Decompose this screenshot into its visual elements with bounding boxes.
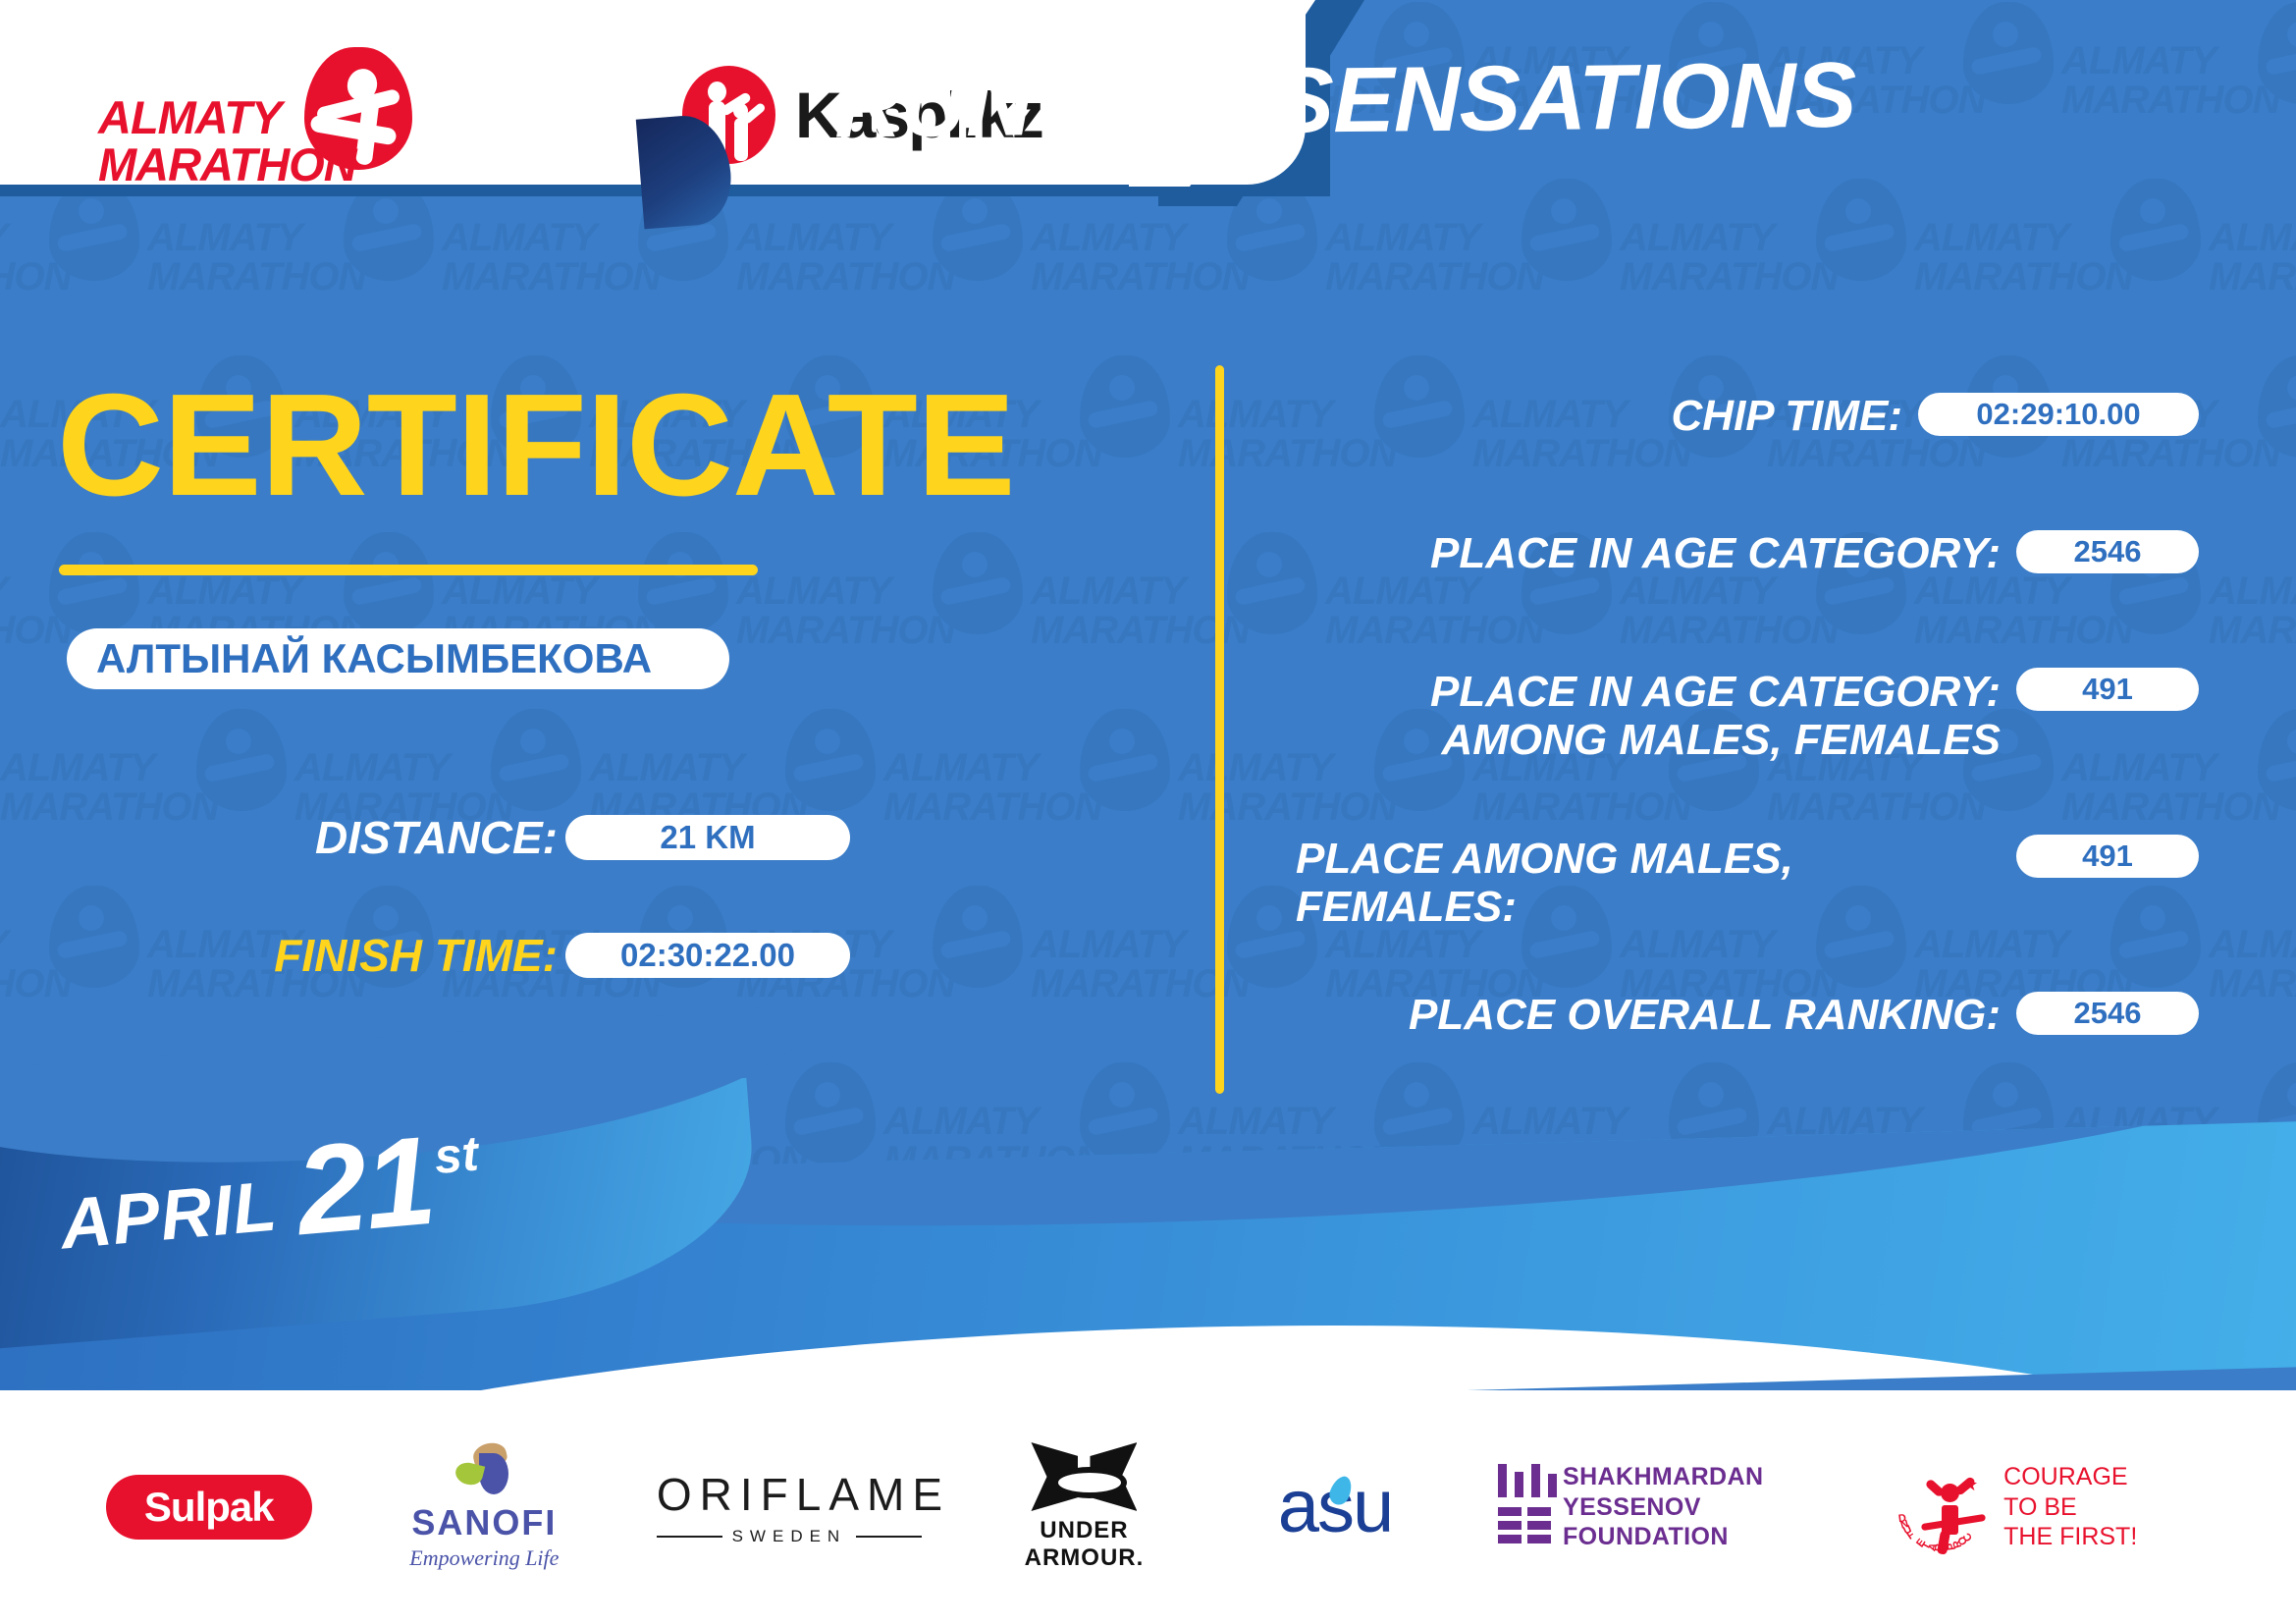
yessenov-bar-segment bbox=[1548, 1474, 1557, 1497]
sponsor-courage-fund: CORPORATE FUND ★ COURAGE TO BE THE FIRST bbox=[1896, 1458, 2190, 1556]
watermark-line2: MARATHON bbox=[1914, 609, 2132, 653]
watermark-tile: ALMATYMARATHON bbox=[0, 707, 294, 884]
watermark-line2: MARATHON bbox=[1325, 609, 1543, 653]
watermark-line2: MARATHON bbox=[0, 255, 71, 299]
under-armour-wordmark: UNDER ARMOUR. bbox=[995, 1517, 1172, 1572]
watermark-tile: ALMATYMARATHON bbox=[736, 177, 1031, 353]
vertical-divider bbox=[1215, 365, 1224, 1094]
watermark-tile: ALMATYMARATHON bbox=[1325, 177, 1620, 353]
watermark-line2: MARATHON bbox=[2209, 962, 2296, 1006]
watermark-line2: MARATHON bbox=[0, 785, 218, 830]
finish-time-label: FINISH TIME: bbox=[273, 929, 558, 982]
sponsor-oriflame: ORIFLAME SWEDEN bbox=[657, 1468, 922, 1546]
watermark-tile: ALMATYMARATHON bbox=[2209, 530, 2296, 707]
yessenov-line2: FOUNDATION bbox=[1563, 1522, 1822, 1552]
watermark-line1: ALMATY bbox=[442, 216, 597, 260]
asu-logo: asu bbox=[1247, 1470, 1423, 1544]
almaty-logo-line2: MARATHON bbox=[98, 137, 356, 191]
watermark-line1: ALMATY bbox=[1178, 1100, 1333, 1144]
arc-letter: D bbox=[1897, 1512, 1906, 1525]
event-day-suffix: st bbox=[432, 1124, 480, 1185]
watermark-tile: ALMATYMARATHON bbox=[0, 177, 147, 353]
stat-row-place-age-category-gender: PLACE IN AGE CATEGORY: AMONG MALES, FEMA… bbox=[1296, 668, 2199, 765]
watermark-line1: ALMATY bbox=[1620, 216, 1775, 260]
watermark-line1: ALMATY bbox=[1031, 569, 1186, 614]
under-armour-ua-icon bbox=[1031, 1442, 1137, 1511]
watermark-tile: ALMATYMARATHON bbox=[0, 884, 147, 1060]
sulpak-logo: Sulpak bbox=[106, 1475, 312, 1540]
watermark-line2: MARATHON bbox=[0, 609, 71, 653]
courage-line1: COURAGE bbox=[2003, 1462, 2137, 1492]
watermark-tile: ALMATYMARATHON bbox=[2209, 177, 2296, 353]
watermark-tile: ALMATYMARATHON bbox=[2061, 0, 2296, 177]
watermark-line2: MARATHON bbox=[1914, 255, 2132, 299]
watermark-line2: MARATHON bbox=[2209, 609, 2296, 653]
watermark-line1: ALMATY bbox=[147, 216, 302, 260]
watermark-line1: ALMATY bbox=[1325, 216, 1480, 260]
distance-label: DISTANCE: bbox=[273, 811, 558, 864]
courage-text-block: COURAGE TO BE THE FIRST! bbox=[2003, 1462, 2137, 1552]
watermark-line2: MARATHON bbox=[883, 785, 1101, 830]
watermark-line2: MARATHON bbox=[736, 255, 954, 299]
distance-value-pill: 21 KM bbox=[565, 815, 850, 860]
sanofi-petal-purple bbox=[479, 1453, 508, 1494]
sulpak-wordmark: Sulpak bbox=[144, 1484, 274, 1531]
watermark-line2: MARATHON bbox=[1031, 255, 1249, 299]
stat-label: PLACE IN AGE CATEGORY: AMONG MALES, FEMA… bbox=[1430, 668, 2001, 765]
stat-label: PLACE OVERALL RANKING: bbox=[1409, 992, 2001, 1039]
courage-runner-icon: ★ bbox=[1925, 1476, 1980, 1552]
watermark-line1: ALMATY bbox=[2209, 216, 2296, 260]
oriflame-subline: SWEDEN bbox=[657, 1527, 922, 1546]
oriflame-wordmark: ORIFLAME bbox=[657, 1468, 922, 1521]
watermark-line1: ALMATY bbox=[2061, 39, 2216, 83]
kaspi-child-body bbox=[734, 118, 748, 161]
watermark-line2: MARATHON bbox=[736, 609, 954, 653]
event-month: APRIL bbox=[57, 1165, 280, 1265]
stat-value: 491 bbox=[2082, 672, 2133, 707]
yessenov-logo: SHAKHMARDAN YESSENOV FOUNDATION bbox=[1498, 1462, 1822, 1552]
title-underline bbox=[59, 565, 758, 575]
yessenov-bar-segment bbox=[1498, 1507, 1522, 1516]
almaty-logo-line1: ALMATY bbox=[98, 90, 281, 144]
watermark-line1: ALMATY bbox=[1031, 923, 1186, 967]
courage-line2: TO BE bbox=[2003, 1492, 2137, 1523]
courage-fund-logo: CORPORATE FUND ★ COURAGE TO BE THE FIRST bbox=[1896, 1458, 2190, 1556]
watermark-line1: ALMATY bbox=[0, 746, 155, 790]
watermark-line2: MARATHON bbox=[1472, 785, 1690, 830]
stat-value-pill: 491 bbox=[2016, 668, 2199, 711]
watermark-line2: MARATHON bbox=[1178, 785, 1396, 830]
watermark-line1: ALMATY bbox=[294, 746, 450, 790]
stat-value: 02:29:10.00 bbox=[1976, 397, 2140, 432]
under-armour-ring-shape bbox=[1052, 1467, 1127, 1498]
courage-leg bbox=[1937, 1530, 1950, 1554]
watermark-line1: ALMATY bbox=[442, 569, 597, 614]
stat-value-pill: 2546 bbox=[2016, 992, 2199, 1035]
oriflame-logo: ORIFLAME SWEDEN bbox=[657, 1468, 922, 1546]
watermark-line2: MARATHON bbox=[0, 962, 71, 1006]
watermark-tile: ALMATYMARATHON bbox=[1031, 884, 1325, 1060]
watermark-line1: ALMATY bbox=[147, 569, 302, 614]
watermark-tile: ALMATYMARATHON bbox=[1620, 177, 1914, 353]
stat-row-chip-time: CHIP TIME: 02:29:10.00 bbox=[1296, 393, 2199, 440]
sponsor-under-armour: UNDER ARMOUR. bbox=[995, 1442, 1172, 1572]
sanofi-mark-icon bbox=[450, 1443, 518, 1498]
watermark-line1: ALMATY bbox=[1914, 216, 2069, 260]
yessenov-bar-segment bbox=[1515, 1472, 1523, 1497]
stat-row-place-overall: PLACE OVERALL RANKING: 2546 bbox=[1296, 992, 2199, 1039]
watermark-line2: MARATHON bbox=[1620, 255, 1838, 299]
watermark-line1: ALMATY bbox=[2209, 923, 2296, 967]
yessenov-text-block: SHAKHMARDAN YESSENOV FOUNDATION bbox=[1563, 1462, 1822, 1552]
stat-label: PLACE AMONG MALES, FEMALES: bbox=[1296, 835, 2001, 932]
stat-row-place-among-gender: PLACE AMONG MALES, FEMALES: 491 bbox=[1296, 835, 2199, 932]
watermark-line1: ALMATY bbox=[0, 923, 8, 967]
stat-row-place-age-category: PLACE IN AGE CATEGORY: 2546 bbox=[1296, 530, 2199, 577]
sanofi-tagline: Empowering Life bbox=[386, 1545, 582, 1571]
watermark-tile: ALMATYMARATHON bbox=[147, 177, 442, 353]
watermark-line1: ALMATY bbox=[883, 746, 1039, 790]
yessenov-bar-segment bbox=[1531, 1464, 1540, 1497]
finish-time-row: FINISH TIME: 02:30:22.00 bbox=[273, 929, 850, 982]
kaspi-adult-head bbox=[708, 81, 726, 102]
courage-line3: THE FIRST! bbox=[2003, 1522, 2137, 1552]
stat-value: 491 bbox=[2082, 839, 2133, 874]
watermark-line2: MARATHON bbox=[2209, 255, 2296, 299]
event-day: 21 bbox=[293, 1123, 438, 1250]
stat-value-pill: 2546 bbox=[2016, 530, 2199, 573]
yessenov-bars-icon bbox=[1498, 1464, 1543, 1550]
watermark-line1: ALMATY bbox=[2209, 569, 2296, 614]
watermark-line2: MARATHON bbox=[2061, 79, 2279, 123]
sponsor-yessenov: SHAKHMARDAN YESSENOV FOUNDATION bbox=[1498, 1462, 1822, 1552]
watermark-line1: ALMATY bbox=[736, 216, 891, 260]
yessenov-bar-segment bbox=[1527, 1535, 1551, 1543]
distance-value: 21 KM bbox=[660, 819, 755, 856]
watermark-line2: MARATHON bbox=[1767, 785, 1985, 830]
stat-label: CHIP TIME: bbox=[1672, 393, 1902, 440]
watermark-line2: MARATHON bbox=[1620, 609, 1838, 653]
watermark-tile: ALMATYMARATHON bbox=[2209, 884, 2296, 1060]
watermark-line2: MARATHON bbox=[1325, 255, 1543, 299]
distance-row: DISTANCE: 21 KM bbox=[273, 811, 850, 864]
oriflame-sweden-text: SWEDEN bbox=[732, 1527, 847, 1546]
almaty-marathon-logo: ALMATY MARATHON bbox=[98, 47, 422, 175]
sponsor-sanofi: SANOFI Empowering Life bbox=[386, 1443, 582, 1571]
participant-name-field: АЛТЫНАЙ КАСЫМБЕКОВА bbox=[67, 628, 729, 689]
watermark-tile: ALMATYMARATHON bbox=[2061, 353, 2296, 530]
watermark-tile: ALMATYMARATHON bbox=[883, 707, 1178, 884]
page-title: CERTIFICATE bbox=[57, 373, 1015, 518]
watermark-line2: MARATHON bbox=[2061, 785, 2279, 830]
finish-time-value: 02:30:22.00 bbox=[620, 937, 795, 974]
under-armour-logo: UNDER ARMOUR. bbox=[995, 1442, 1172, 1572]
finish-time-value-pill: 02:30:22.00 bbox=[565, 933, 850, 978]
yessenov-bar-segment bbox=[1527, 1521, 1551, 1530]
watermark-line1: ALMATY bbox=[0, 569, 8, 614]
yessenov-bar-segment bbox=[1498, 1521, 1522, 1530]
watermark-tile: ALMATYMARATHON bbox=[1767, 353, 2061, 530]
yessenov-bar-segment bbox=[1527, 1507, 1551, 1516]
watermark-line1: ALMATY bbox=[0, 216, 8, 260]
stat-value: 2546 bbox=[2074, 534, 2142, 569]
stat-value-pill: 491 bbox=[2016, 835, 2199, 878]
watermark-tile: ALMATYMARATHON bbox=[736, 530, 1031, 707]
sponsor-bar: Sulpak SANOFI Empowering Life ORIFLAME S… bbox=[0, 1390, 2296, 1624]
watermark-tile: ALMATYMARATHON bbox=[1914, 177, 2209, 353]
stat-value-pill: 02:29:10.00 bbox=[1918, 393, 2199, 436]
stat-label: PLACE IN AGE CATEGORY: bbox=[1430, 530, 2001, 577]
sanofi-logo: SANOFI Empowering Life bbox=[386, 1443, 582, 1571]
watermark-tile: ALMATYMARATHON bbox=[1031, 530, 1325, 707]
watermark-line1: ALMATY bbox=[1472, 1100, 1628, 1144]
watermark-line1: ALMATY bbox=[1031, 216, 1186, 260]
oriflame-rule-left bbox=[657, 1536, 722, 1538]
watermark-tile: ALMATYMARATHON bbox=[1472, 353, 1767, 530]
stat-value: 2546 bbox=[2074, 996, 2142, 1031]
watermark-line2: MARATHON bbox=[147, 255, 365, 299]
courage-fund-mark: CORPORATE FUND ★ bbox=[1896, 1458, 1990, 1556]
yessenov-bar-segment bbox=[1498, 1535, 1522, 1543]
sponsor-sulpak: Sulpak bbox=[106, 1475, 312, 1540]
yessenov-bar-segment bbox=[1498, 1464, 1507, 1497]
yessenov-line1: SHAKHMARDAN YESSENOV bbox=[1563, 1462, 1822, 1522]
watermark-line1: ALMATY bbox=[736, 569, 891, 614]
watermark-line1: ALMATY bbox=[589, 746, 744, 790]
participant-name-value: АЛТЫНАЙ КАСЫМБЕКОВА bbox=[96, 635, 652, 682]
watermark-line1: ALMATY bbox=[883, 1100, 1039, 1144]
sanofi-wordmark: SANOFI bbox=[386, 1502, 582, 1543]
watermark-line2: MARATHON bbox=[442, 255, 660, 299]
certificate-canvas: ALMATYMARATHONALMATYMARATHONALMATYMARATH… bbox=[0, 0, 2296, 1624]
tagline-text: RUN FOR SENSATIONS bbox=[833, 42, 1855, 159]
sponsor-asu: asu bbox=[1247, 1470, 1423, 1544]
oriflame-rule-right bbox=[856, 1536, 922, 1538]
